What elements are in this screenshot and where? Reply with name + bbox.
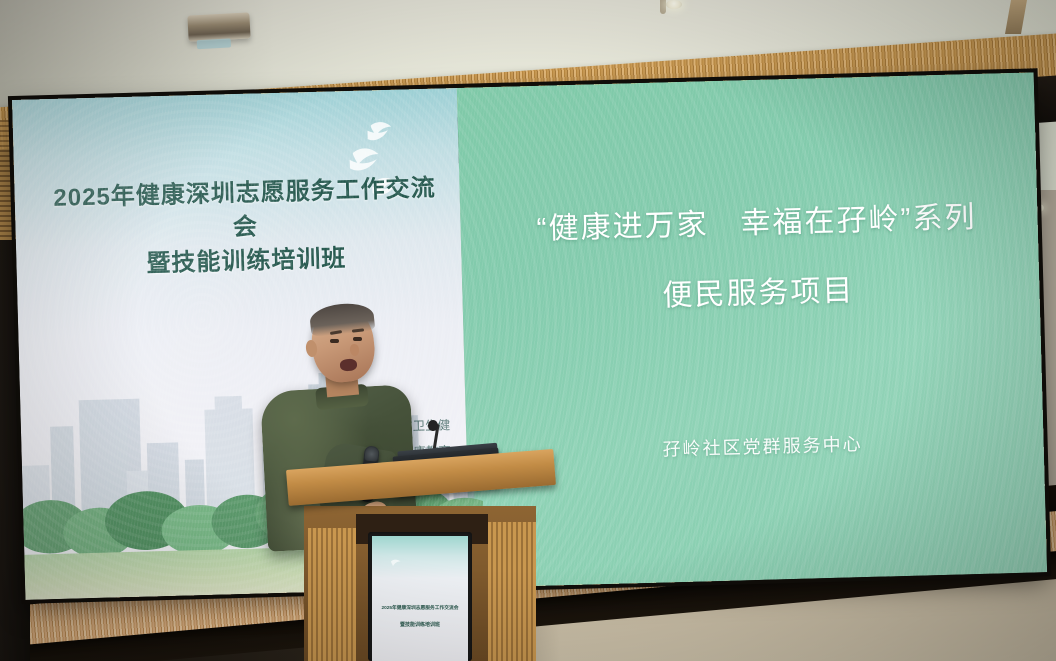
podium-side-panel xyxy=(308,528,356,661)
podium-display-title-line-1: 2025年健康深圳志愿服务工作交流会 xyxy=(374,604,465,611)
downlight-icon xyxy=(666,0,682,9)
slide-title-block: 2025年健康深圳志愿服务工作交流会 暨技能训练培训班 xyxy=(45,171,446,284)
speaker-eye xyxy=(330,339,339,343)
slide-title-line-1: 2025年健康深圳志愿服务工作交流会 xyxy=(45,171,445,250)
dove-icon xyxy=(389,556,402,569)
podium-display-title-line-2: 暨技能训练培训班 xyxy=(372,621,468,628)
microphone-icon xyxy=(428,420,438,431)
presentation-photo: 2025年健康深圳志愿服务工作交流会 暨技能训练培训班 xyxy=(0,0,1056,661)
podium-side-panel xyxy=(488,522,536,661)
podium-front-display[interactable]: 2025年健康深圳志愿服务工作交流会 暨技能训练培训班 xyxy=(368,532,472,661)
slide-footer-organization: 孖岭社区党群服务中心 xyxy=(481,425,1044,466)
speaker-eye xyxy=(353,337,362,341)
podium: 2025年健康深圳志愿服务工作交流会 暨技能训练培训班 xyxy=(286,470,554,661)
headline-line-2: 便民服务项目 xyxy=(477,260,1040,319)
slide-right-text-block: “健康进万家 幸福在孖岭”系列 便民服务项目 孖岭社区党群服务中心 xyxy=(472,72,1047,587)
headline-line-1: “健康进万家 幸福在孖岭”系列 xyxy=(475,190,1038,249)
ceiling-projector-icon xyxy=(187,12,250,41)
podium-display-content: 2025年健康深圳志愿服务工作交流会 暨技能训练培训班 xyxy=(372,536,468,661)
sprinkler-icon xyxy=(660,0,666,14)
